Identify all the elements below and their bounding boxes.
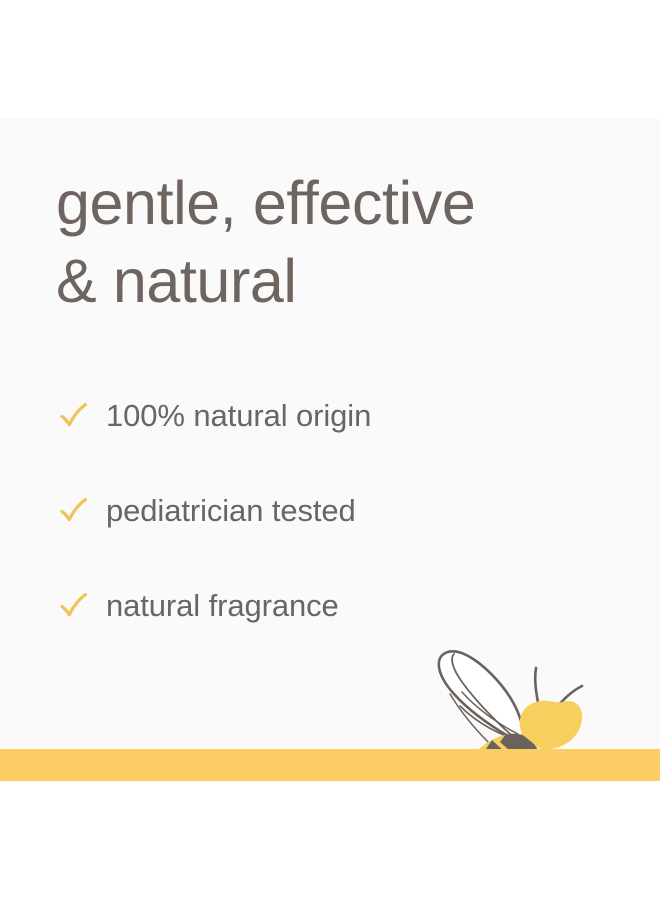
bee-head (520, 701, 583, 750)
page-title: gentle, effective & natural (56, 164, 596, 320)
check-icon (58, 495, 90, 527)
list-item: natural fragrance (58, 558, 528, 653)
list-item: pediatrician tested (58, 463, 528, 558)
list-item-label: 100% natural origin (106, 398, 371, 434)
product-benefits-panel: gentle, effective & natural 100% natural… (0, 0, 660, 900)
bottom-margin (0, 781, 660, 900)
feature-list: 100% natural origin pediatrician tested … (58, 368, 528, 653)
check-icon (58, 590, 90, 622)
list-item-label: natural fragrance (106, 588, 339, 624)
bee-antennae (535, 668, 582, 716)
top-margin (0, 0, 660, 118)
check-icon (58, 400, 90, 432)
list-item: 100% natural origin (58, 368, 528, 463)
benefits-card: gentle, effective & natural 100% natural… (0, 118, 660, 749)
bee-wing-left (439, 651, 523, 744)
accent-band (0, 749, 660, 781)
list-item-label: pediatrician tested (106, 493, 356, 529)
